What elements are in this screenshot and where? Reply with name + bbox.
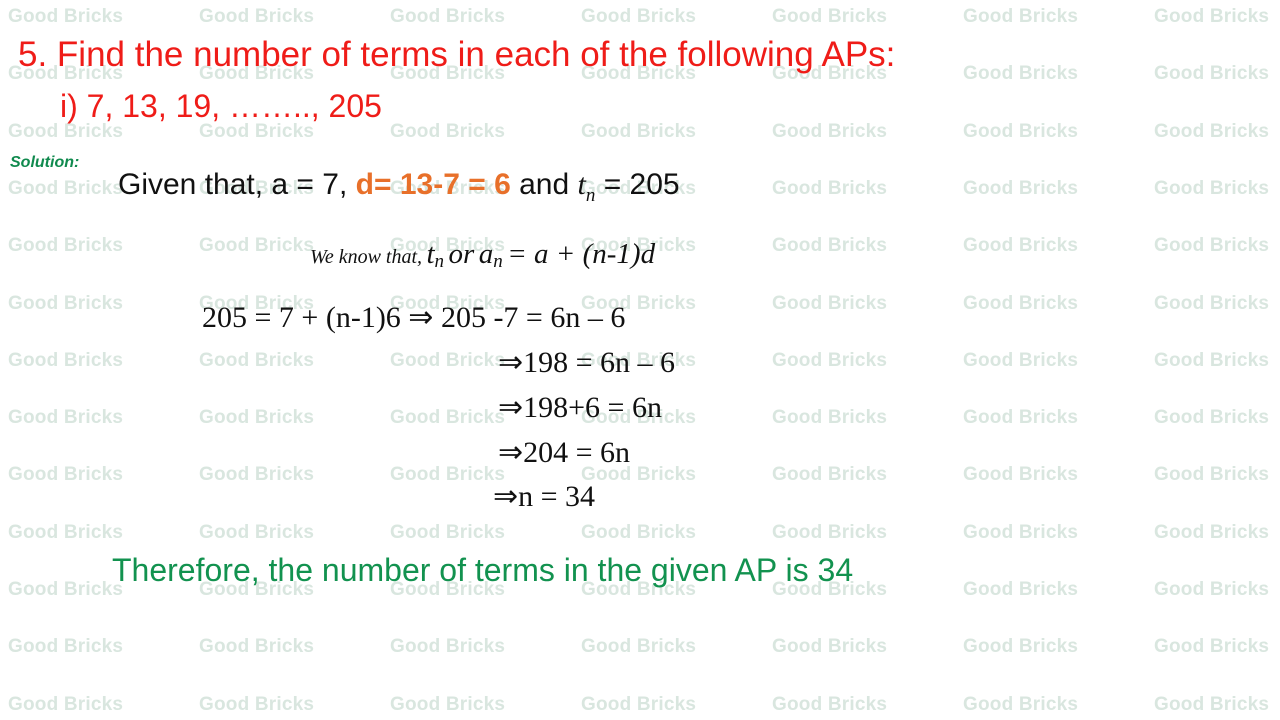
- conclusion-line: Therefore, the number of terms in the gi…: [112, 552, 853, 589]
- step-line-4: ⇒204 = 6n: [498, 435, 630, 470]
- formula-a-subscript: n: [493, 251, 503, 272]
- slide-content: 5. Find the number of terms in each of t…: [0, 0, 1280, 720]
- given-line: Given that, a = 7, d= 13-7 = 6 and tn = …: [118, 168, 680, 207]
- question-subpart: i) 7, 13, 19, …….., 205: [60, 88, 382, 125]
- solution-label: Solution:: [10, 154, 79, 172]
- question-title: 5. Find the number of terms in each of t…: [18, 32, 1258, 78]
- given-common-difference: d= 13-7 = 6: [356, 168, 511, 201]
- formula-prefix: We know that,: [310, 246, 422, 268]
- step-line-1: 205 = 7 + (n-1)6 ⇒ 205 -7 = 6n – 6: [202, 300, 625, 335]
- formula-t-variable: t: [426, 238, 434, 270]
- step-line-5: ⇒n = 34: [493, 479, 595, 514]
- formula-line: We know that, tn or an = a + (n-1)d: [310, 238, 655, 273]
- step-line-3: ⇒198+6 = 6n: [498, 390, 662, 425]
- formula-expression: = a + (n-1)d: [507, 238, 655, 270]
- given-tn-subscript: n: [586, 185, 596, 206]
- formula-or: or: [449, 238, 475, 270]
- given-tn-variable: t: [578, 168, 586, 201]
- step-line-2: ⇒198 = 6n – 6: [498, 345, 675, 380]
- formula-t-subscript: n: [435, 251, 445, 272]
- formula-a-variable: a: [479, 238, 494, 270]
- given-tn-value: = 205: [604, 168, 680, 201]
- given-and: and: [519, 168, 569, 201]
- given-prefix: Given that, a = 7,: [118, 168, 347, 201]
